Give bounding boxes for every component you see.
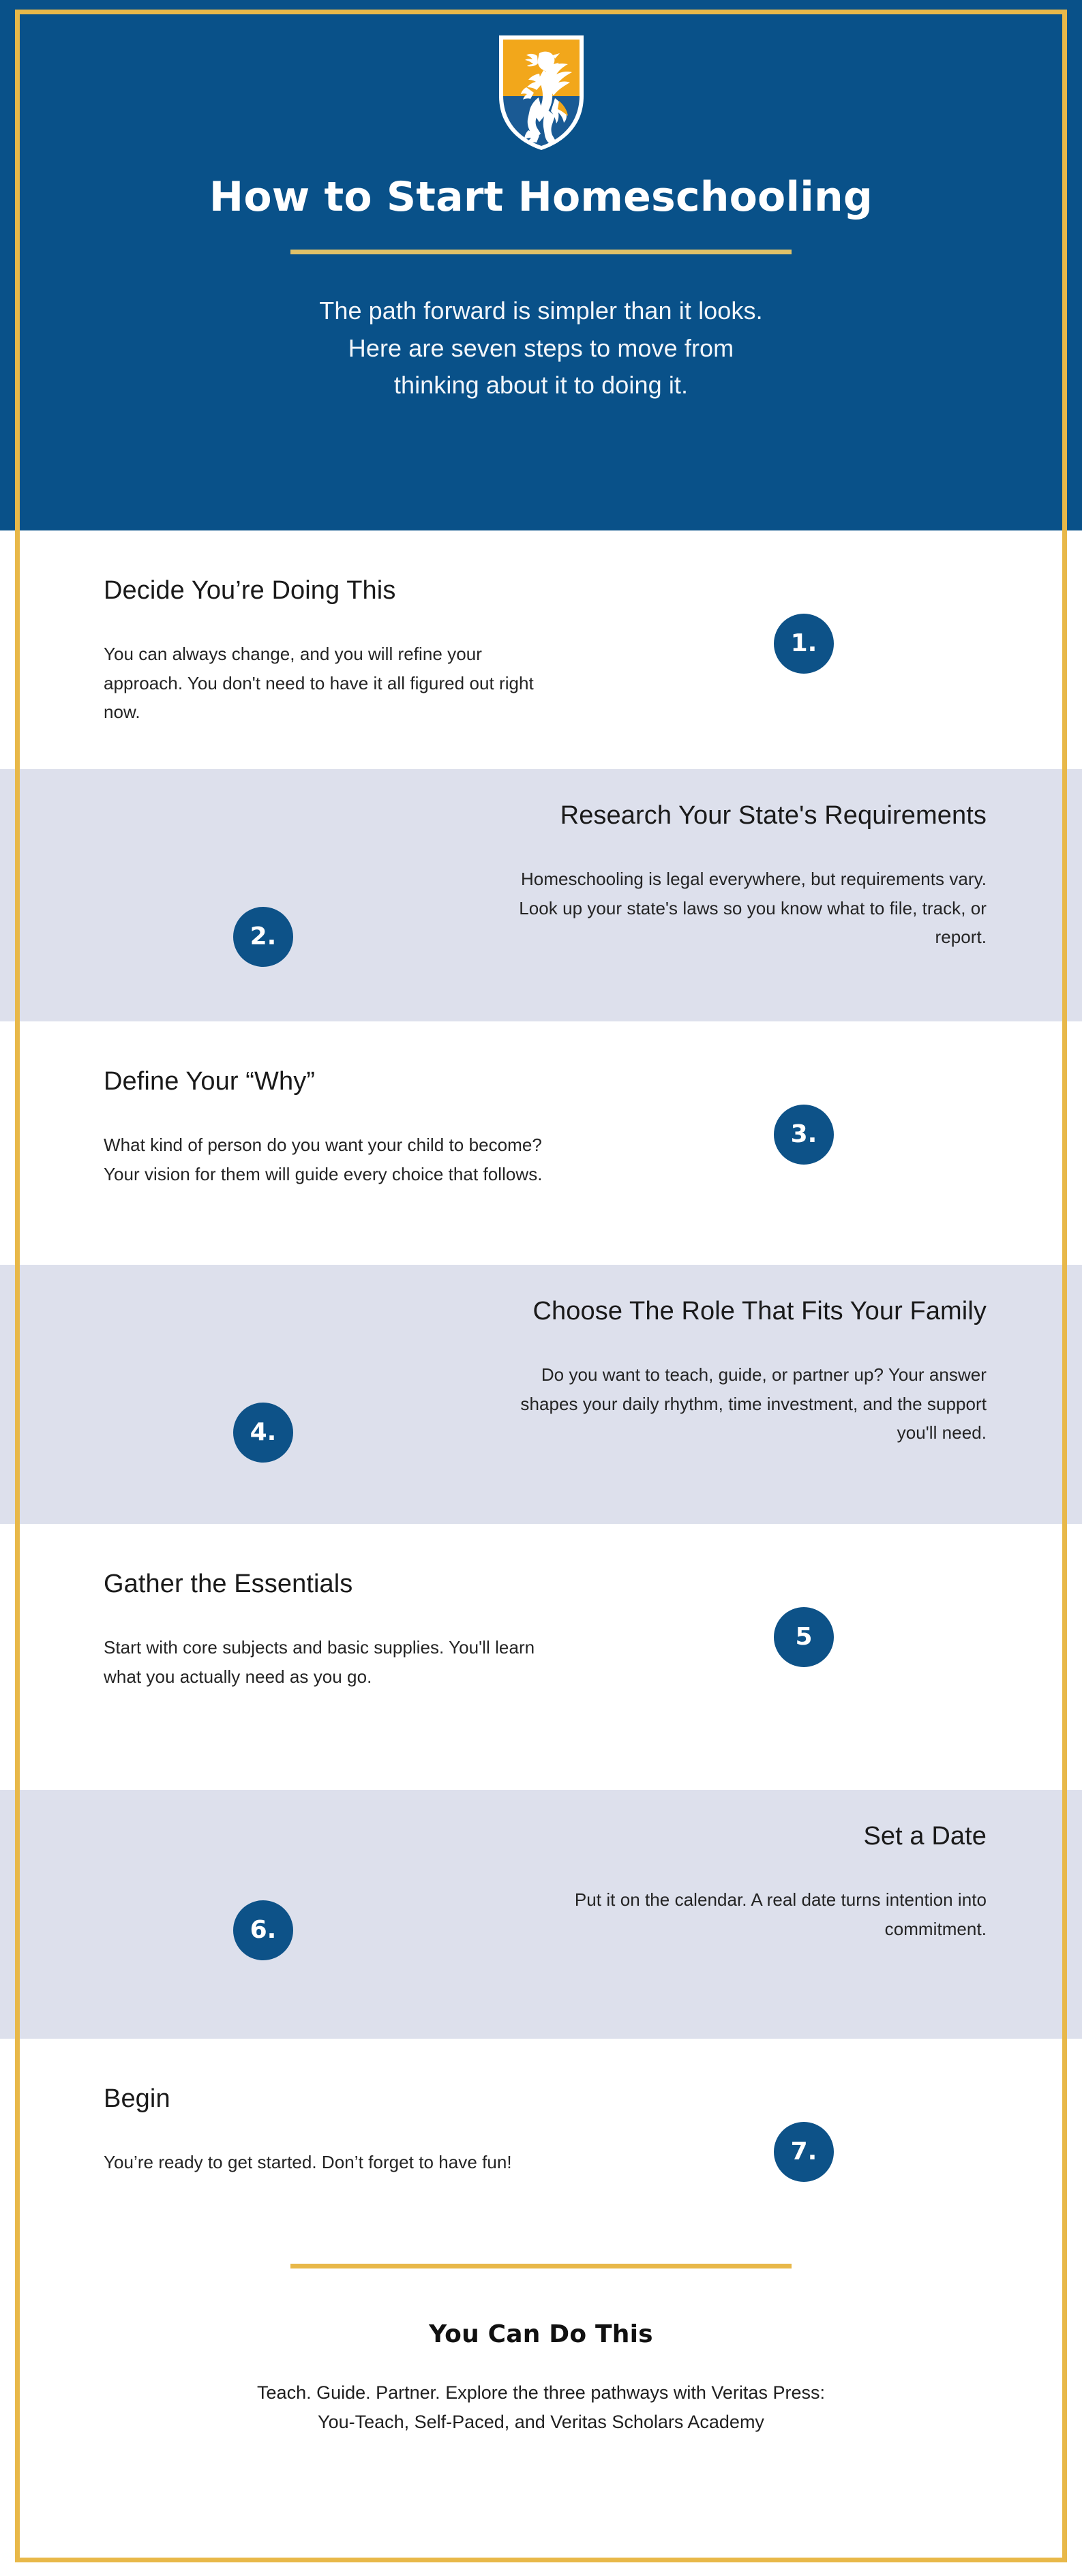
step-number-badge: 1. <box>774 614 834 674</box>
step-item: Gather the Essentials Start with core su… <box>0 1524 1082 1790</box>
footer-body: Teach. Guide. Partner. Explore the three… <box>160 2378 923 2437</box>
footer-body-line: Teach. Guide. Partner. Explore the three… <box>160 2378 923 2408</box>
header-divider <box>290 250 792 254</box>
header-subtitle: The path forward is simpler than it look… <box>319 293 762 404</box>
infographic-page: How to Start Homeschooling The path forw… <box>0 0 1082 2576</box>
step-number-badge: 7. <box>774 2122 834 2182</box>
header-subtitle-line: Here are seven steps to move from <box>319 330 762 368</box>
step-item: Define Your “Why” What kind of person do… <box>0 1021 1082 1265</box>
header-banner: How to Start Homeschooling The path forw… <box>0 0 1082 530</box>
step-item: 6. Set a Date Put it on the calendar. A … <box>0 1790 1082 2039</box>
step-body: Put it on the calendar. A real date turn… <box>509 1885 987 1943</box>
griffin-shield-icon <box>496 33 586 150</box>
footer-divider <box>290 2264 792 2268</box>
header-subtitle-line: The path forward is simpler than it look… <box>319 293 762 330</box>
header-subtitle-line: thinking about it to doing it. <box>319 367 762 404</box>
page-title: How to Start Homeschooling <box>209 175 873 220</box>
step-body: You’re ready to get started. Don’t forge… <box>104 2148 554 2176</box>
step-title: Begin <box>104 2081 559 2116</box>
step-body: Do you want to teach, guide, or partner … <box>509 1360 987 1446</box>
step-item: Decide You’re Doing This You can always … <box>0 530 1082 769</box>
step-title: Decide You’re Doing This <box>104 573 559 608</box>
step-body: You can always change, and you will refi… <box>104 640 554 725</box>
steps-list: Decide You’re Doing This You can always … <box>0 530 1082 2264</box>
step-number-badge: 5 <box>774 1607 834 1667</box>
step-item: Begin You’re ready to get started. Don’t… <box>0 2039 1082 2264</box>
footer-title: You Can Do This <box>0 2320 1082 2348</box>
step-body: Start with core subjects and basic suppl… <box>104 1633 554 1690</box>
footer: You Can Do This Teach. Guide. Partner. E… <box>0 2264 1082 2576</box>
step-title: Gather the Essentials <box>104 1566 559 1602</box>
step-body: Homeschooling is legal everywhere, but r… <box>509 865 987 950</box>
step-title: Define Your “Why” <box>104 1064 559 1099</box>
step-body: What kind of person do you want your chi… <box>104 1130 554 1188</box>
step-item: 2. Research Your State's Requirements Ho… <box>0 769 1082 1021</box>
step-title: Research Your State's Requirements <box>409 798 987 833</box>
step-number-badge: 4. <box>233 1403 293 1463</box>
step-number-badge: 6. <box>233 1900 293 1960</box>
step-number-badge: 2. <box>233 907 293 967</box>
step-item: 4. Choose The Role That Fits Your Family… <box>0 1265 1082 1524</box>
step-title: Set a Date <box>409 1818 987 1854</box>
footer-body-line: You-Teach, Self-Paced, and Veritas Schol… <box>160 2408 923 2437</box>
step-title: Choose The Role That Fits Your Family <box>409 1293 987 1329</box>
step-number-badge: 3. <box>774 1105 834 1165</box>
